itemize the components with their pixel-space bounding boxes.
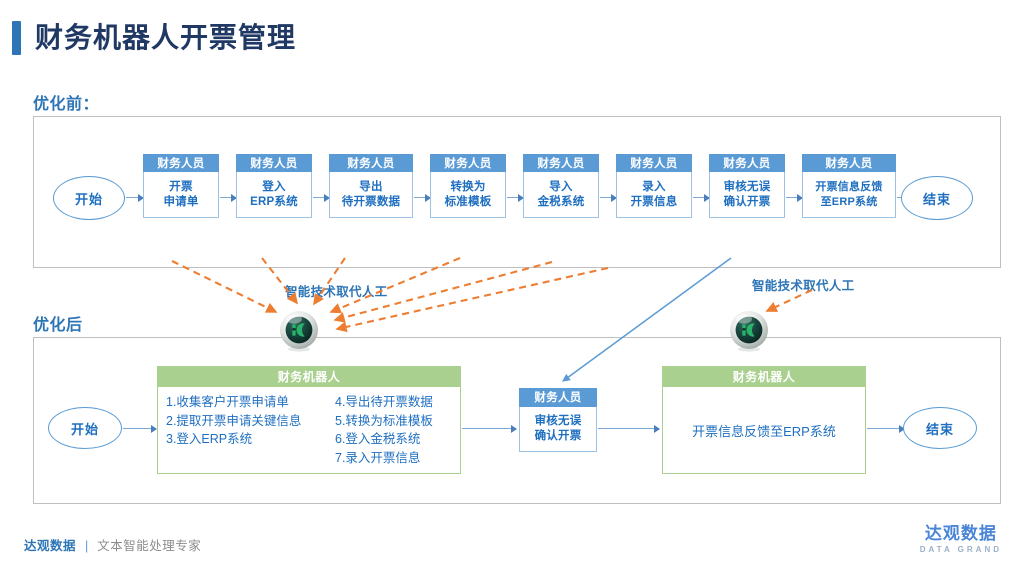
footer-tagline: 文本智能处理专家: [97, 535, 201, 554]
node-text-line1: 导出: [359, 180, 382, 195]
footer-brand: 达观数据: [24, 535, 76, 554]
robot-sphere-icon: [728, 310, 770, 352]
connector-arrow: [313, 197, 329, 198]
robot-step-item: 2.提取开票申请关键信息: [166, 412, 331, 431]
node-text-line2: 待开票数据: [342, 195, 401, 210]
start-terminator-after: 开始: [48, 407, 122, 449]
node-body: 审核无误 确认开票: [709, 172, 785, 218]
node-text-line2: 至ERP系统: [821, 195, 878, 210]
node-body: 导入 金税系统: [523, 172, 599, 218]
node-role-header: 财务人员: [709, 154, 785, 172]
robot-erp-box: 财务机器人 开票信息反馈至ERP系统: [662, 366, 866, 474]
node-text-line2: 申请单: [163, 195, 198, 210]
end-terminator-before: 结束: [901, 176, 973, 220]
flow-node-before-8: 财务人员 开票信息反馈 至ERP系统: [802, 154, 896, 218]
node-text-line1: 审核无误: [535, 414, 582, 429]
robot-steps-column-2: 4.导出待开票数据 5.转换为标准模板 6.登入金税系统 7.录入开票信息: [335, 393, 433, 467]
connector-arrow: [867, 428, 904, 429]
node-role-header: 财务人员: [236, 154, 312, 172]
flow-node-before-1: 财务人员 开票 申请单: [143, 154, 219, 218]
section-label-before: 优化前：: [33, 90, 99, 114]
section-label-after: 优化后: [33, 311, 83, 335]
node-role-header: 财务人员: [523, 154, 599, 172]
node-text-line1: 开票信息反馈: [815, 180, 882, 195]
node-role-header: 财务人员: [430, 154, 506, 172]
robot-steps-box: 财务机器人 1.收集客户开票申请单 2.提取开票申请关键信息 3.登入ERP系统…: [157, 366, 461, 474]
flow-node-before-2: 财务人员 登入 ERP系统: [236, 154, 312, 218]
annotation-right: 智能技术取代人工: [752, 275, 854, 294]
robot-step-item: 1.收集客户开票申请单: [166, 393, 331, 412]
start-terminator-before: 开始: [53, 176, 125, 220]
annotation-left: 智能技术取代人工: [285, 281, 387, 300]
title-accent-bar: [12, 21, 21, 55]
connector-arrow: [123, 428, 156, 429]
footer-left: 达观数据 | 文本智能处理专家: [24, 535, 201, 554]
robot-step-item: 4.导出待开票数据: [335, 393, 433, 412]
node-text-line2: 金税系统: [538, 195, 585, 210]
node-text-line2: 标准模板: [445, 195, 492, 210]
robot-steps-column-1: 1.收集客户开票申请单 2.提取开票申请关键信息 3.登入ERP系统: [166, 393, 331, 467]
start-label: 开始: [75, 189, 103, 208]
node-role-header: 财务人员: [143, 154, 219, 172]
flow-node-after-check: 财务人员 审核无误 确认开票: [519, 388, 597, 452]
node-role-header: 财务人员: [519, 388, 597, 407]
robot-step-item: 7.录入开票信息: [335, 449, 433, 468]
node-text-line2: 开票信息: [631, 195, 678, 210]
flow-node-before-4: 财务人员 转换为 标准模板: [430, 154, 506, 218]
node-body: 开票信息反馈 至ERP系统: [802, 172, 896, 218]
node-role-header: 财务人员: [329, 154, 413, 172]
node-body: 转换为 标准模板: [430, 172, 506, 218]
robot-step-item: 6.登入金税系统: [335, 430, 433, 449]
robot-erp-header: 财务机器人: [663, 367, 865, 387]
orange-dashed-arrow-group: [172, 258, 608, 329]
node-text-line2: 确认开票: [535, 429, 582, 444]
connector-arrow: [693, 197, 709, 198]
connector-arrow: [414, 197, 430, 198]
node-text-line1: 开票: [169, 180, 192, 195]
connector-arrow: [598, 428, 659, 429]
footer-logo: 达观数据 DATA GRAND: [920, 524, 1002, 555]
flow-node-before-3: 财务人员 导出 待开票数据: [329, 154, 413, 218]
flow-node-before-5: 财务人员 导入 金税系统: [523, 154, 599, 218]
node-text-line1: 审核无误: [724, 180, 771, 195]
logo-chinese: 达观数据: [920, 524, 1002, 544]
connector-arrow: [220, 197, 236, 198]
node-text-line1: 录入: [642, 180, 665, 195]
end-label: 结束: [926, 419, 954, 438]
start-label: 开始: [71, 419, 99, 438]
node-body: 录入 开票信息: [616, 172, 692, 218]
node-role-header: 财务人员: [802, 154, 896, 172]
node-text-line2: ERP系统: [250, 195, 298, 210]
node-body: 开票 申请单: [143, 172, 219, 218]
connector-arrow: [786, 197, 802, 198]
connector-arrow: [462, 428, 516, 429]
flow-node-before-6: 财务人员 录入 开票信息: [616, 154, 692, 218]
end-terminator-after: 结束: [903, 407, 977, 449]
node-body: 登入 ERP系统: [236, 172, 312, 218]
footer-separator: |: [85, 539, 88, 553]
robot-step-item: 3.登入ERP系统: [166, 430, 331, 449]
node-role-header: 财务人员: [616, 154, 692, 172]
connector-arrow: [507, 197, 523, 198]
node-body: 导出 待开票数据: [329, 172, 413, 218]
node-text-line1: 登入: [262, 180, 285, 195]
flow-node-before-7: 财务人员 审核无误 确认开票: [709, 154, 785, 218]
node-text-line2: 确认开票: [724, 195, 771, 210]
connector-arrow: [600, 197, 616, 198]
robot-sphere-icon: [278, 310, 320, 352]
end-label: 结束: [923, 189, 951, 208]
page-header: 财务机器人开票管理: [0, 18, 296, 58]
node-text-line1: 转换为: [450, 180, 485, 195]
node-body: 审核无误 确认开票: [519, 407, 597, 452]
robot-step-item: 5.转换为标准模板: [335, 412, 433, 431]
page-title: 财务机器人开票管理: [35, 24, 296, 52]
node-text-line1: 导入: [549, 180, 572, 195]
robot-steps-header: 财务机器人: [158, 367, 460, 387]
robot-erp-body: 开票信息反馈至ERP系统: [663, 387, 865, 473]
connector-arrow: [126, 197, 143, 198]
logo-english: DATA GRAND: [920, 544, 1002, 555]
robot-steps-body: 1.收集客户开票申请单 2.提取开票申请关键信息 3.登入ERP系统 4.导出待…: [158, 387, 460, 467]
